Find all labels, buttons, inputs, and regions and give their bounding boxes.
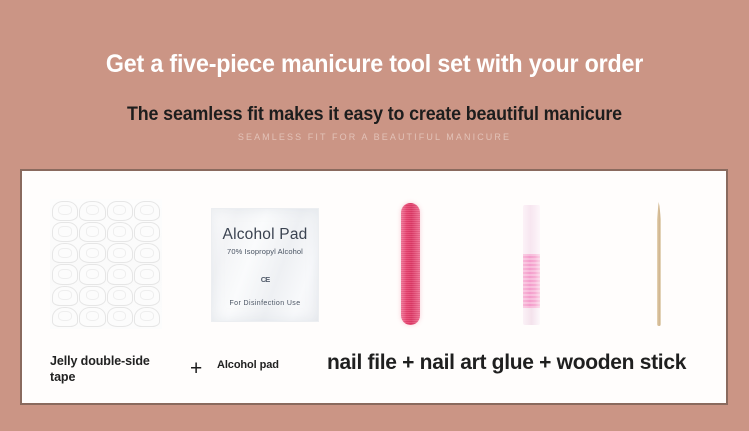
glue-body: [523, 254, 540, 308]
subheadline: The seamless fit makes it easy to create…: [22, 104, 726, 126]
tape-tab: [79, 286, 105, 306]
product-panel: Alcohol Pad 70% Isopropyl Alcohol CE For…: [20, 169, 728, 405]
tape-tab: [107, 286, 133, 306]
tape-tab: [134, 307, 160, 327]
tape-tab: [134, 243, 160, 263]
product-image-row: Alcohol Pad 70% Isopropyl Alcohol CE For…: [22, 171, 726, 346]
tape-tab: [107, 222, 133, 242]
tape-tab: [79, 222, 105, 242]
packet-title: Alcohol Pad: [212, 226, 318, 244]
tape-tab: [79, 201, 105, 221]
packet-footer: For Disinfection Use: [212, 300, 318, 307]
caption-jelly-tape: Jelly double-side tape: [50, 354, 170, 385]
tape-tab: [134, 286, 160, 306]
glue-cap: [523, 205, 540, 254]
tape-tab: [134, 222, 160, 242]
tape-tab: [79, 243, 105, 263]
tape-tab: [79, 307, 105, 327]
wooden-stick-image: [657, 202, 661, 326]
tape-tab: [52, 307, 78, 327]
tape-tab: [52, 286, 78, 306]
tape-tab: [52, 243, 78, 263]
tape-tab: [134, 264, 160, 284]
tape-tab: [107, 307, 133, 327]
packet-subtitle: 70% Isopropyl Alcohol: [212, 247, 318, 256]
plus-separator-icon: +: [190, 356, 202, 382]
tape-tab: [52, 264, 78, 284]
glue-base: [523, 308, 540, 325]
product-caption-row: Jelly double-side tape + Alcohol pad nai…: [22, 342, 726, 403]
nail-file-image: [401, 203, 420, 325]
alcohol-pad-packet-image: Alcohol Pad 70% Isopropyl Alcohol CE For…: [211, 208, 319, 322]
micro-tagline: SEAMLESS FIT FOR A BEAUTIFUL MANICURE: [0, 132, 749, 142]
jelly-tape-sheet-image: [50, 199, 162, 329]
ce-mark-icon: CE: [212, 275, 318, 284]
tape-tab: [107, 201, 133, 221]
caption-alcohol-pad: Alcohol pad: [217, 359, 337, 373]
tape-tab: [107, 264, 133, 284]
tape-tab: [134, 201, 160, 221]
headline: Get a five-piece manicure tool set with …: [26, 50, 723, 79]
tape-tab: [52, 222, 78, 242]
nail-art-glue-image: [523, 205, 540, 325]
tape-tab: [52, 201, 78, 221]
caption-tools-list: nail file + nail art glue + wooden stick: [327, 350, 686, 376]
tape-tab: [107, 243, 133, 263]
product-panel-inner: Alcohol Pad 70% Isopropyl Alcohol CE For…: [22, 171, 726, 403]
tape-tab: [79, 264, 105, 284]
